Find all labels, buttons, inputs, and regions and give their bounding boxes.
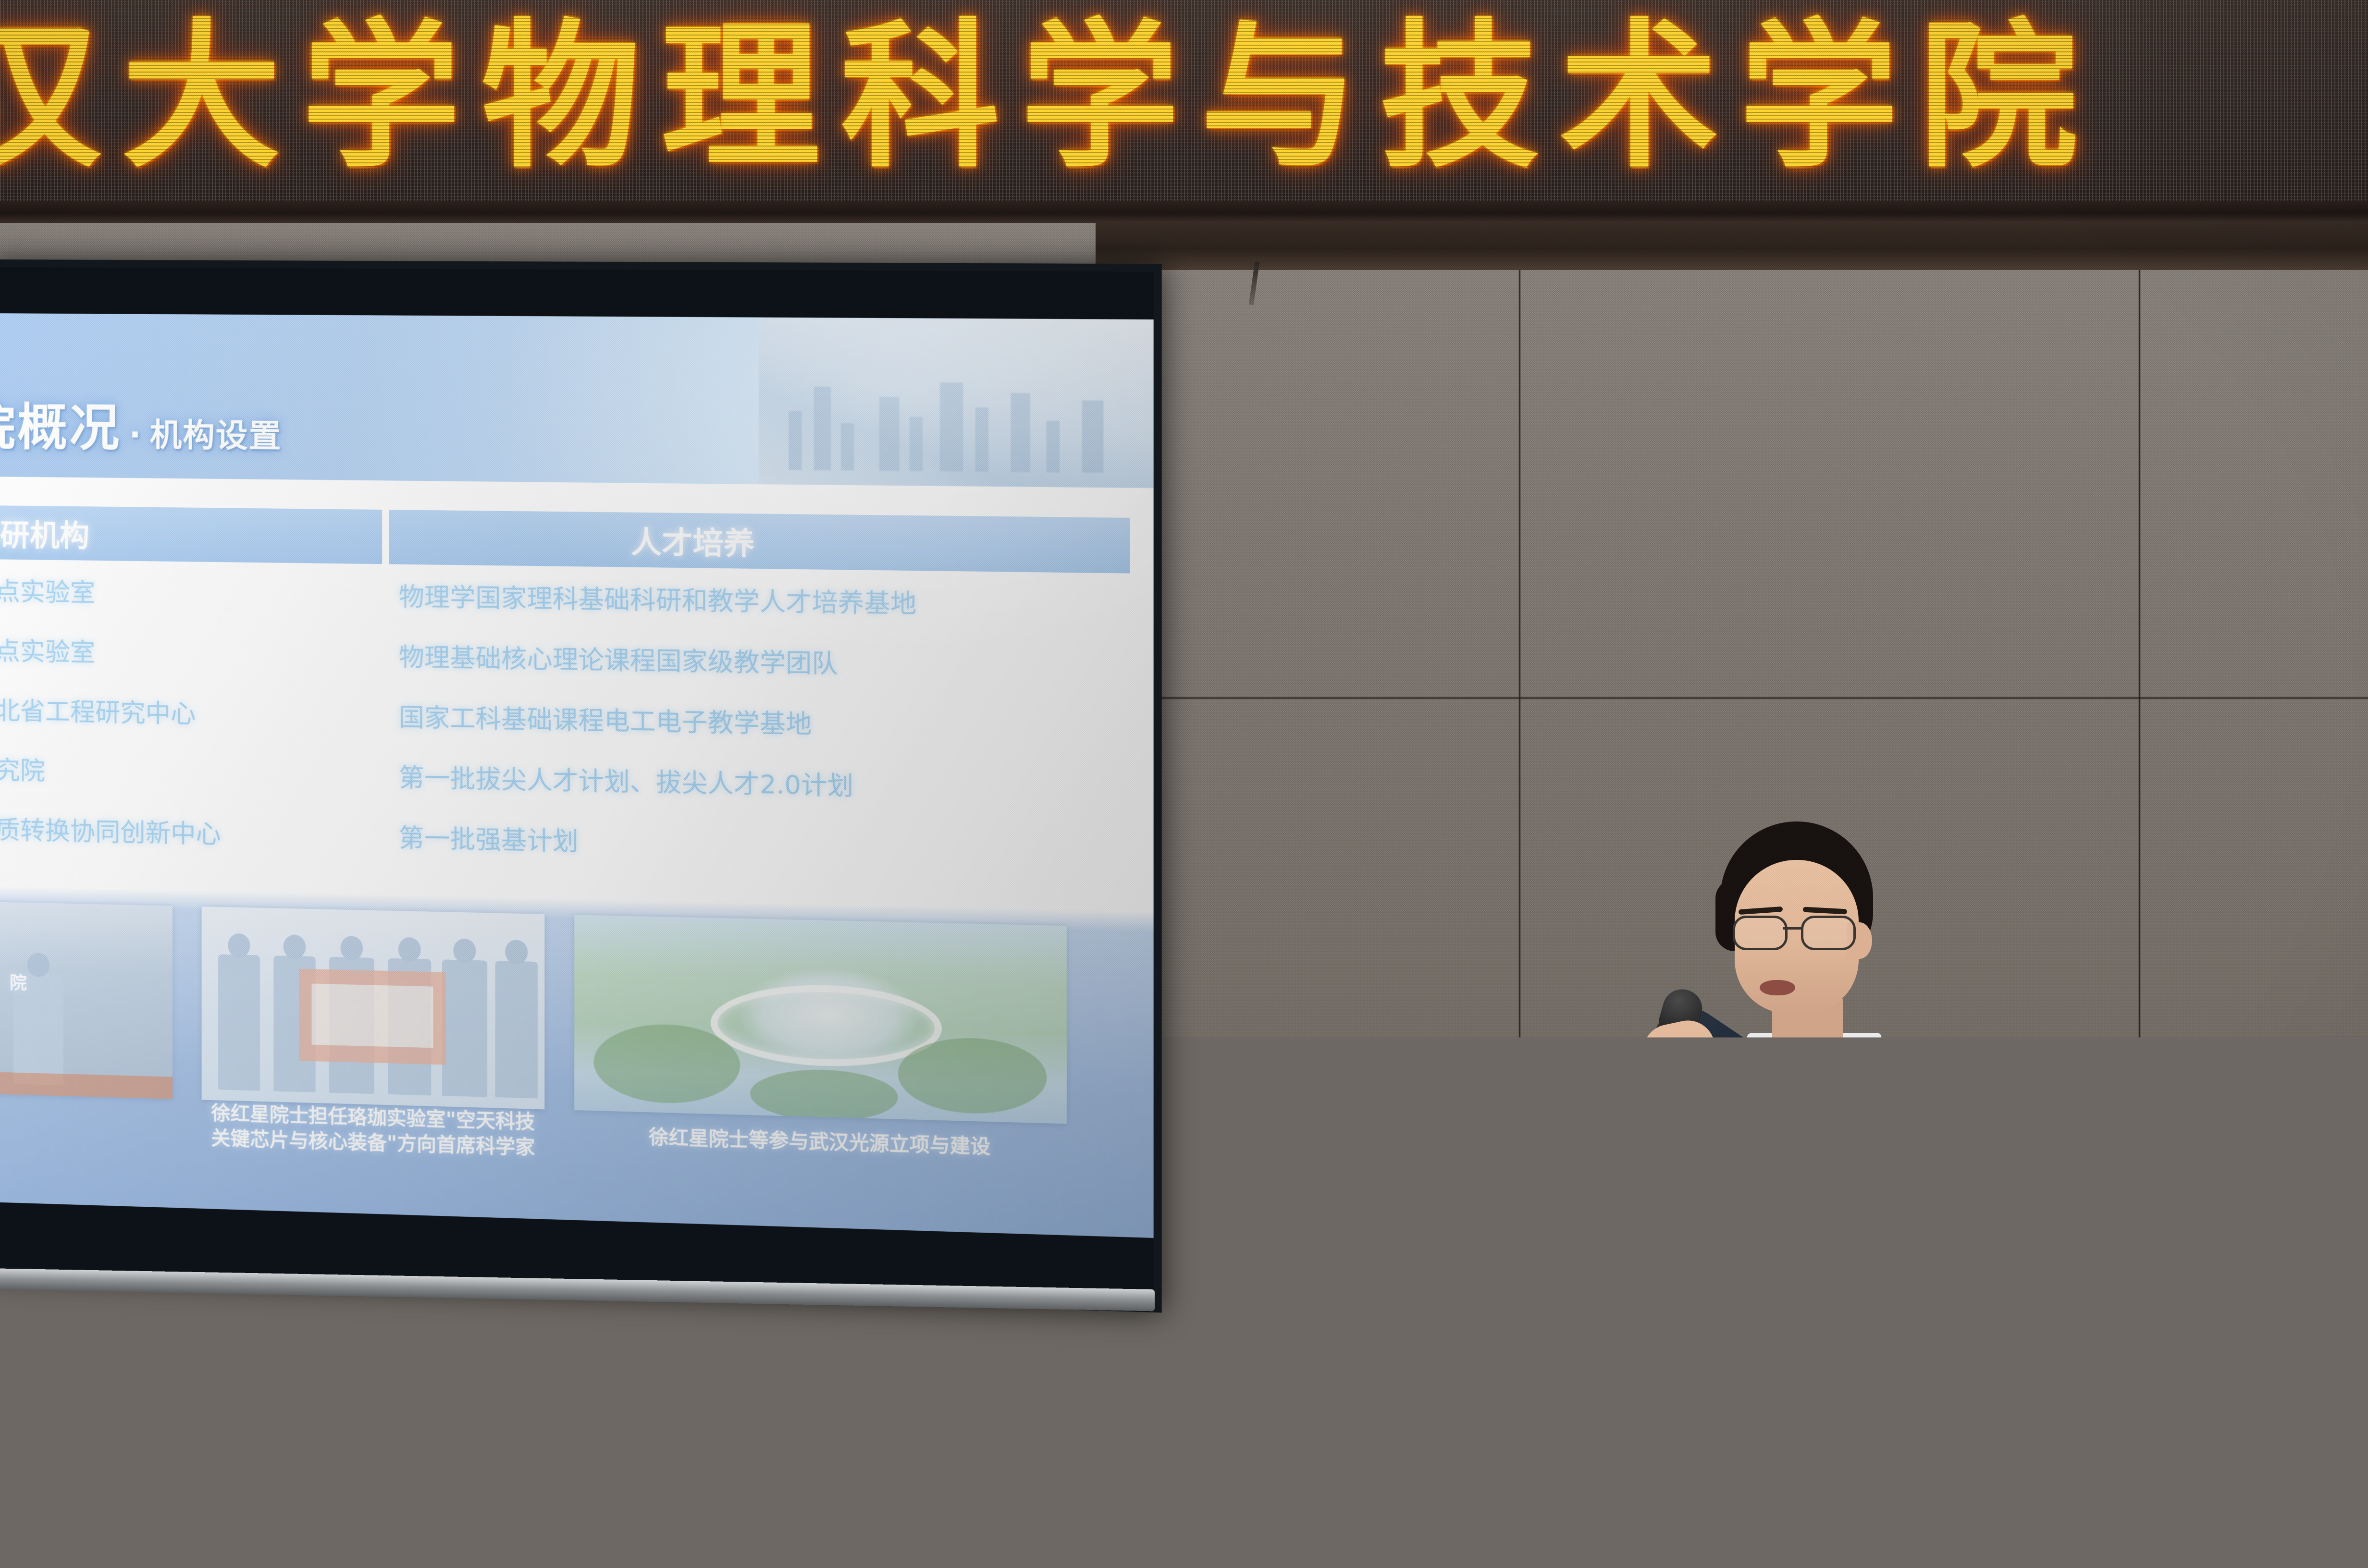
- bottle-body: [1403, 1483, 1475, 1568]
- wainscot-seam-3: [807, 1261, 810, 1568]
- led-banner: 汉大学物理科学与技术学院: [0, 0, 2368, 217]
- ceiling-soffit: [1096, 217, 2368, 270]
- clicker-button[interactable]: [1438, 1160, 1449, 1169]
- lecture-hall-scene: 汉大学物理科学与技术学院: [0, 0, 2368, 1568]
- clicker-button-secondary[interactable]: [1454, 1159, 1465, 1168]
- presenter-mouth: [1760, 980, 1795, 995]
- bottle-logo-icon: [1412, 1533, 1429, 1548]
- water-bottle-tall[interactable]: [1403, 1465, 1475, 1568]
- led-banner-frame: [0, 201, 2368, 223]
- bottle-body: [1552, 1556, 1610, 1568]
- wainscot-seam-1: [144, 1261, 147, 1568]
- led-banner-text: 汉大学物理科学与技术学院: [0, 0, 2368, 206]
- screen-bezel: [0, 259, 1162, 1313]
- attendee-right: [2081, 1153, 2368, 1568]
- wainscot-seam-2: [471, 1261, 473, 1568]
- attendee-right-collar: [2239, 1412, 2368, 1568]
- attendee-left-sleeve: [1802, 1441, 1956, 1568]
- eyeglasses-icon: [1731, 916, 1865, 947]
- projection-screen[interactable]: 院概况·机构设置 科研机构 人才培养 重点实验室 物理学国家理科基础科研和教学人…: [0, 259, 1162, 1313]
- water-bottle-short[interactable]: [1552, 1537, 1610, 1568]
- bottle-label: [1403, 1524, 1475, 1553]
